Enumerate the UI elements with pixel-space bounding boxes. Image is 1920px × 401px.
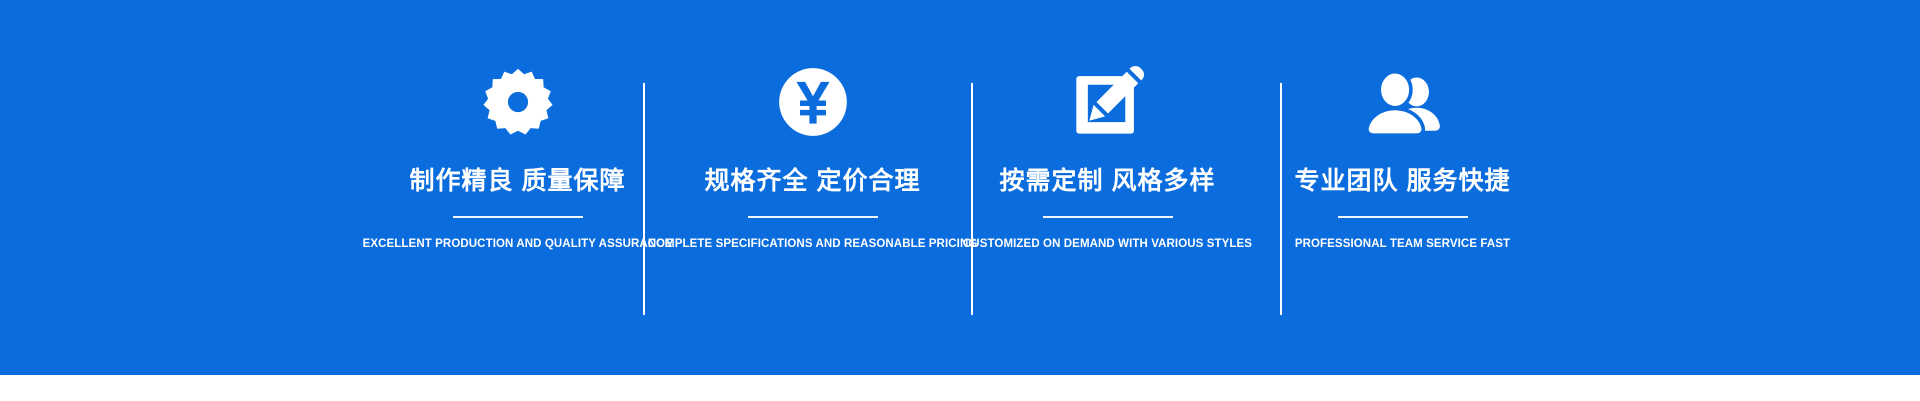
feature-title: 规格齐全 定价合理 xyxy=(705,166,921,196)
feature-item-team[interactable]: 专业团队 服务快捷 PROFESSIONAL TEAM SERVICE FAST xyxy=(1255,0,1550,375)
yen-circle-icon xyxy=(773,62,853,142)
title-rule xyxy=(1338,216,1468,218)
title-rule xyxy=(453,216,583,218)
users-team-icon xyxy=(1363,62,1443,142)
feature-item-pricing[interactable]: 规格齐全 定价合理 COMPLETE SPECIFICATIONS AND RE… xyxy=(665,0,960,375)
feature-title: 专业团队 服务快捷 xyxy=(1295,166,1511,196)
feature-subtitle: PROFESSIONAL TEAM SERVICE FAST xyxy=(1295,238,1510,250)
feature-subtitle: CUSTOMIZED ON DEMAND WITH VARIOUS STYLES xyxy=(963,238,1252,250)
feature-subtitle: EXCELLENT PRODUCTION AND QUALITY ASSURAN… xyxy=(363,238,673,250)
gear-icon xyxy=(478,62,558,142)
feature-banner: 制作精良 质量保障 EXCELLENT PRODUCTION AND QUALI… xyxy=(0,0,1920,375)
title-rule xyxy=(1043,216,1173,218)
feature-title: 制作精良 质量保障 xyxy=(410,166,626,196)
feature-list: 制作精良 质量保障 EXCELLENT PRODUCTION AND QUALI… xyxy=(370,0,1550,375)
feature-title: 按需定制 风格多样 xyxy=(1000,166,1216,196)
edit-square-icon xyxy=(1068,62,1148,142)
feature-item-customization[interactable]: 按需定制 风格多样 CUSTOMIZED ON DEMAND WITH VARI… xyxy=(960,0,1255,375)
title-rule xyxy=(748,216,878,218)
feature-subtitle: COMPLETE SPECIFICATIONS AND REASONABLE P… xyxy=(648,238,978,250)
feature-item-production[interactable]: 制作精良 质量保障 EXCELLENT PRODUCTION AND QUALI… xyxy=(370,0,665,375)
